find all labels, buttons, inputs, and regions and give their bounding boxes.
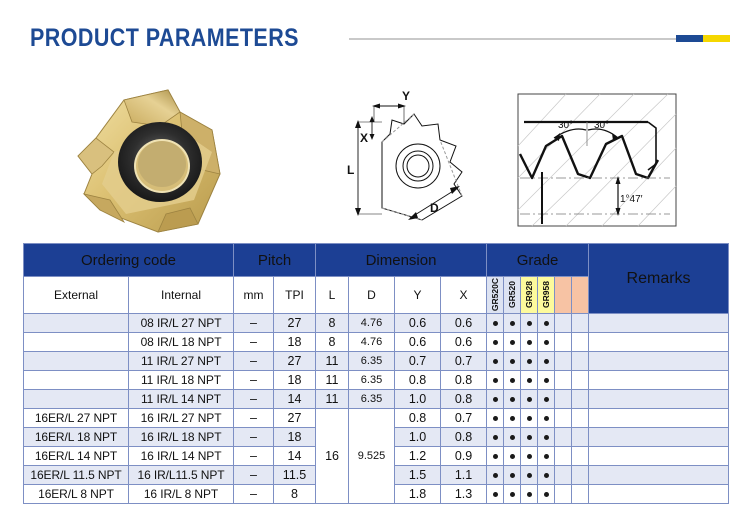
cell-grade-available (521, 333, 538, 352)
cell-grade-available (487, 390, 504, 409)
cell-grade-available (504, 314, 521, 333)
header-pitch: Pitch (234, 244, 316, 277)
table-group-header-row: Ordering code Pitch Dimension Grade Rema… (24, 244, 729, 277)
cell-dim-d: 4.76 (349, 314, 395, 333)
grade-dot-icon (493, 378, 498, 383)
cell-grade-available (521, 390, 538, 409)
cell-grade-available (538, 390, 555, 409)
cell-dim-l: 8 (316, 314, 349, 333)
grade-dot-icon (510, 340, 515, 345)
grade-dot-icon (493, 321, 498, 326)
product-parameters-page: PRODUCT PARAMETERS (0, 0, 750, 529)
cell-dim-x: 1.1 (441, 466, 487, 485)
cell-dim-y: 0.6 (395, 314, 441, 333)
cell-pitch-mm: – (234, 333, 274, 352)
cell-external-code: 16ER/L 18 NPT (24, 428, 129, 447)
grade-dot-icon (510, 492, 515, 497)
grade-dot-icon (493, 435, 498, 440)
cell-internal-code: 11 IR/L 18 NPT (129, 371, 234, 390)
grade-dot-icon (544, 454, 549, 459)
cell-grade-available (521, 314, 538, 333)
cell-grade-empty (555, 314, 572, 333)
cell-grade-empty (555, 466, 572, 485)
grade-dot-icon (527, 492, 532, 497)
grade-dot-icon (493, 454, 498, 459)
cell-dim-l: 16 (316, 409, 349, 504)
cell-pitch-tpi: 27 (274, 352, 316, 371)
dim-label-L: L (347, 163, 354, 177)
grade-dot-icon (510, 454, 515, 459)
grade-dot-icon (527, 378, 532, 383)
subheader-l: L (316, 277, 349, 314)
cell-grade-available (504, 390, 521, 409)
grade-dot-icon (510, 473, 515, 478)
header-remarks: Remarks (589, 244, 729, 314)
cell-remarks (589, 447, 729, 466)
cell-grade-empty (555, 371, 572, 390)
cell-grade-available (538, 409, 555, 428)
grade-dot-icon (544, 473, 549, 478)
cell-grade-available (487, 466, 504, 485)
cell-remarks (589, 428, 729, 447)
cell-pitch-tpi: 18 (274, 333, 316, 352)
cell-external-code (24, 390, 129, 409)
cell-internal-code: 16 IR/L 8 NPT (129, 485, 234, 504)
cell-grade-available (521, 447, 538, 466)
cell-dim-d: 4.76 (349, 333, 395, 352)
cell-grade-empty (555, 390, 572, 409)
subheader-grade-gr958: GR958 (538, 277, 555, 314)
cell-dim-y: 1.0 (395, 428, 441, 447)
cell-grade-available (487, 409, 504, 428)
cell-pitch-tpi: 8 (274, 485, 316, 504)
cell-internal-code: 16 IR/L 18 NPT (129, 428, 234, 447)
cell-grade-available (487, 333, 504, 352)
dimension-drawing-svg: L D X Y (330, 84, 500, 234)
cell-grade-available (487, 314, 504, 333)
cell-pitch-mm: – (234, 352, 274, 371)
cell-dim-x: 0.8 (441, 390, 487, 409)
cell-pitch-tpi: 14 (274, 390, 316, 409)
cell-external-code: 16ER/L 27 NPT (24, 409, 129, 428)
cell-grade-empty (555, 447, 572, 466)
cell-remarks (589, 466, 729, 485)
cell-grade-empty (555, 333, 572, 352)
cell-grade-empty (555, 352, 572, 371)
cell-internal-code: 11 IR/L 27 NPT (129, 352, 234, 371)
cell-external-code (24, 314, 129, 333)
cell-external-code: 16ER/L 8 NPT (24, 485, 129, 504)
cell-pitch-mm: – (234, 371, 274, 390)
subheader-d: D (349, 277, 395, 314)
cell-grade-available (521, 466, 538, 485)
subheader-y: Y (395, 277, 441, 314)
cell-internal-code: 16 IR/L 14 NPT (129, 447, 234, 466)
cell-grade-available (521, 409, 538, 428)
cell-grade-available (504, 409, 521, 428)
title-divider-line (349, 38, 676, 40)
product-parameters-table: Ordering code Pitch Dimension Grade Rema… (23, 243, 729, 504)
cell-grade-available (538, 466, 555, 485)
cell-grade-available (538, 352, 555, 371)
cell-pitch-mm: – (234, 447, 274, 466)
cell-external-code (24, 371, 129, 390)
cell-grade-available (538, 333, 555, 352)
grade-dot-icon (510, 397, 515, 402)
cell-pitch-mm: – (234, 485, 274, 504)
cell-external-code: 16ER/L 14 NPT (24, 447, 129, 466)
header-dimension: Dimension (316, 244, 487, 277)
cell-grade-empty (572, 428, 589, 447)
grade-dot-icon (544, 435, 549, 440)
grade-dot-icon (527, 359, 532, 364)
cell-grade-available (504, 428, 521, 447)
cell-remarks (589, 371, 729, 390)
cell-grade-available (487, 447, 504, 466)
cell-dim-l: 11 (316, 390, 349, 409)
cell-pitch-tpi: 18 (274, 428, 316, 447)
subheader-x: X (441, 277, 487, 314)
cell-pitch-mm: – (234, 409, 274, 428)
thread-angle-left-label: 30° (558, 120, 573, 131)
cell-dim-y: 0.7 (395, 352, 441, 371)
cell-internal-code: 08 IR/L 27 NPT (129, 314, 234, 333)
cell-grade-available (504, 447, 521, 466)
grade-dot-icon (493, 416, 498, 421)
cell-dim-l: 8 (316, 333, 349, 352)
cell-remarks (589, 409, 729, 428)
cell-dim-d: 6.35 (349, 371, 395, 390)
dim-label-Y: Y (402, 89, 410, 103)
dim-label-X: X (360, 131, 368, 145)
cell-grade-available (487, 428, 504, 447)
cell-grade-available (538, 371, 555, 390)
cell-remarks (589, 485, 729, 504)
cell-dim-d: 6.35 (349, 390, 395, 409)
title-accent-yellow (703, 35, 730, 42)
thread-profile-drawing: 30° 30° 1°47′ (510, 86, 685, 234)
grade-dot-icon (544, 492, 549, 497)
header-grade: Grade (487, 244, 589, 277)
cell-grade-available (504, 485, 521, 504)
cell-dim-y: 0.6 (395, 333, 441, 352)
cell-dim-y: 1.2 (395, 447, 441, 466)
cell-dim-x: 0.6 (441, 333, 487, 352)
title-accent-blue (676, 35, 703, 42)
cell-dim-y: 0.8 (395, 371, 441, 390)
grade-dot-icon (527, 435, 532, 440)
grade-dot-icon (544, 378, 549, 383)
cell-dim-x: 0.6 (441, 314, 487, 333)
grade-dot-icon (544, 321, 549, 326)
subheader-grade-blank-2 (572, 277, 589, 314)
cell-grade-available (487, 485, 504, 504)
cell-dim-l: 11 (316, 371, 349, 390)
cell-grade-available (504, 371, 521, 390)
table-row: 11 IR/L 27 NPT–27116.350.70.7 (24, 352, 729, 371)
figure-row: L D X Y (0, 78, 750, 238)
table-row: 08 IR/L 27 NPT–2784.760.60.6 (24, 314, 729, 333)
grade-dot-icon (493, 359, 498, 364)
cell-dim-x: 1.3 (441, 485, 487, 504)
grade-dot-icon (527, 473, 532, 478)
table-row: 11 IR/L 14 NPT–14116.351.00.8 (24, 390, 729, 409)
table-row: 11 IR/L 18 NPT–18116.350.80.8 (24, 371, 729, 390)
subheader-grade-gr520: GR520 (504, 277, 521, 314)
grade-dot-icon (493, 492, 498, 497)
cell-external-code (24, 333, 129, 352)
insert-photo-svg (62, 82, 232, 237)
cell-pitch-tpi: 18 (274, 371, 316, 390)
grade-dot-icon (527, 340, 532, 345)
page-title: PRODUCT PARAMETERS (30, 24, 299, 53)
grade-dot-icon (493, 473, 498, 478)
subheader-external: External (24, 277, 129, 314)
cell-grade-empty (572, 409, 589, 428)
cell-grade-empty (572, 447, 589, 466)
table-body: 08 IR/L 27 NPT–2784.760.60.608 IR/L 18 N… (24, 314, 729, 504)
cell-remarks (589, 352, 729, 371)
subheader-grade-blank-1 (555, 277, 572, 314)
cell-grade-empty (572, 390, 589, 409)
cell-dim-y: 0.8 (395, 409, 441, 428)
cell-grade-available (538, 314, 555, 333)
dim-label-D: D (430, 201, 439, 215)
grade-dot-icon (493, 397, 498, 402)
table-row: 08 IR/L 18 NPT–1884.760.60.6 (24, 333, 729, 352)
cell-grade-available (521, 485, 538, 504)
page-header: PRODUCT PARAMETERS (0, 18, 750, 58)
grade-dot-icon (493, 340, 498, 345)
cell-remarks (589, 390, 729, 409)
thread-angle-right-label: 30° (594, 120, 609, 131)
grade-dot-icon (510, 416, 515, 421)
header-ordering-code: Ordering code (24, 244, 234, 277)
cell-pitch-mm: – (234, 390, 274, 409)
cell-grade-empty (555, 409, 572, 428)
cell-grade-empty (572, 371, 589, 390)
cell-dim-l: 11 (316, 352, 349, 371)
grade-dot-icon (544, 397, 549, 402)
cell-dim-x: 0.7 (441, 352, 487, 371)
cell-grade-empty (572, 352, 589, 371)
cell-pitch-tpi: 27 (274, 409, 316, 428)
cell-grade-empty (555, 428, 572, 447)
grade-dot-icon (544, 359, 549, 364)
cell-dim-x: 0.7 (441, 409, 487, 428)
cell-remarks (589, 314, 729, 333)
cell-grade-available (504, 466, 521, 485)
cell-grade-empty (572, 333, 589, 352)
cell-grade-empty (572, 314, 589, 333)
subheader-grade-gr928: GR928 (521, 277, 538, 314)
cell-grade-available (521, 371, 538, 390)
grade-dot-icon (544, 416, 549, 421)
cell-dim-x: 0.8 (441, 371, 487, 390)
grade-dot-icon (527, 397, 532, 402)
cell-remarks (589, 333, 729, 352)
grade-dot-icon (510, 435, 515, 440)
cell-external-code (24, 352, 129, 371)
cell-dim-y: 1.0 (395, 390, 441, 409)
cell-grade-empty (572, 466, 589, 485)
subheader-mm: mm (234, 277, 274, 314)
cell-dim-x: 0.8 (441, 428, 487, 447)
grade-dot-icon (527, 416, 532, 421)
cell-internal-code: 11 IR/L 14 NPT (129, 390, 234, 409)
subheader-tpi: TPI (274, 277, 316, 314)
cell-grade-available (504, 352, 521, 371)
cell-dim-x: 0.9 (441, 447, 487, 466)
grade-dot-icon (527, 321, 532, 326)
thread-profile-svg: 30° 30° 1°47′ (510, 86, 685, 234)
cell-dim-d: 6.35 (349, 352, 395, 371)
table-head: Ordering code Pitch Dimension Grade Rema… (24, 244, 729, 314)
cell-grade-available (538, 428, 555, 447)
cell-internal-code: 16 IR/L 27 NPT (129, 409, 234, 428)
cell-pitch-mm: – (234, 314, 274, 333)
cell-grade-available (521, 352, 538, 371)
cell-pitch-tpi: 27 (274, 314, 316, 333)
cell-grade-empty (555, 485, 572, 504)
cell-pitch-tpi: 11.5 (274, 466, 316, 485)
threading-insert-photo (62, 82, 232, 237)
cell-grade-available (487, 352, 504, 371)
cell-grade-available (521, 428, 538, 447)
grade-dot-icon (510, 378, 515, 383)
cell-grade-empty (572, 485, 589, 504)
insert-dimension-drawing: L D X Y (330, 84, 500, 234)
subheader-internal: Internal (129, 277, 234, 314)
cell-dim-y: 1.8 (395, 485, 441, 504)
grade-dot-icon (510, 359, 515, 364)
grade-dot-icon (527, 454, 532, 459)
cell-internal-code: 16 IR/L11.5 NPT (129, 466, 234, 485)
cell-internal-code: 08 IR/L 18 NPT (129, 333, 234, 352)
subheader-grade-gr520c: GR520C (487, 277, 504, 314)
cell-grade-available (538, 447, 555, 466)
grade-dot-icon (510, 321, 515, 326)
thread-taper-angle-label: 1°47′ (620, 194, 643, 205)
cell-dim-y: 1.5 (395, 466, 441, 485)
cell-grade-available (487, 371, 504, 390)
cell-grade-available (504, 333, 521, 352)
table-row: 16ER/L 27 NPT16 IR/L 27 NPT–27169.5250.8… (24, 409, 729, 428)
cell-pitch-mm: – (234, 466, 274, 485)
grade-dot-icon (544, 340, 549, 345)
cell-pitch-tpi: 14 (274, 447, 316, 466)
cell-grade-available (538, 485, 555, 504)
cell-external-code: 16ER/L 11.5 NPT (24, 466, 129, 485)
cell-pitch-mm: – (234, 428, 274, 447)
cell-dim-d: 9.525 (349, 409, 395, 504)
